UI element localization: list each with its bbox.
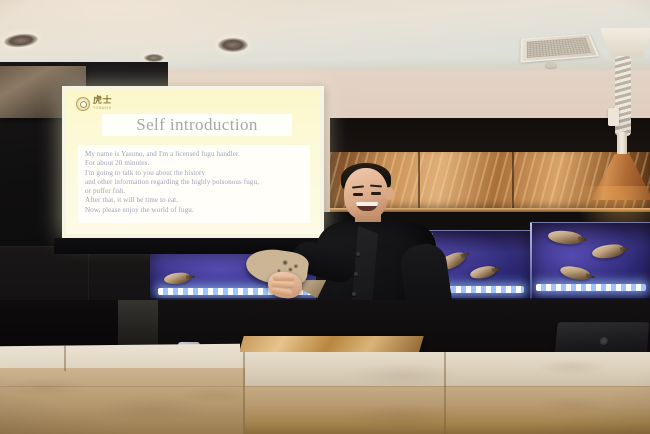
slide-logo: 虎士 TORASHI xyxy=(76,97,112,111)
counter-texture xyxy=(0,368,245,434)
jacket-button xyxy=(356,252,360,256)
laptop-logo-icon xyxy=(600,337,609,345)
aquarium-tank xyxy=(530,222,650,307)
restaurant-scene-photo: 虎士 TORASHI Self introduction My name is … xyxy=(0,0,650,434)
logo-subtitle: TORASHI xyxy=(93,107,112,111)
jacket-button xyxy=(354,272,358,276)
projection-screen: 虎士 TORASHI Self introduction My name is … xyxy=(62,86,324,238)
slide-body-line: For about 20 minutes. xyxy=(85,159,303,168)
chef-head xyxy=(344,168,388,220)
counter-front-left-section xyxy=(0,368,245,434)
tank-glass-edge xyxy=(530,223,532,307)
lamp-switch-box[interactable] xyxy=(608,108,619,126)
chef-eye xyxy=(371,192,381,195)
slide-body-line: Now, please enjoy the world of fugu. xyxy=(85,206,303,215)
slide-body-line: I'm going to talk to you about the histo… xyxy=(85,169,303,178)
upper-dark-band xyxy=(330,118,650,154)
ceiling-downlight-icon xyxy=(144,54,164,62)
pufferfish xyxy=(559,264,591,282)
finger xyxy=(273,275,295,281)
counter-seam xyxy=(243,352,245,434)
jacket-button xyxy=(352,292,356,296)
pufferfish xyxy=(547,229,582,245)
pufferfish xyxy=(163,272,190,286)
slide-body-line: After that, it will be time to eat. xyxy=(85,196,303,205)
slide-body-box: My name is Yasuno, and I'm a licensed fu… xyxy=(78,145,310,223)
chef-eye xyxy=(353,193,363,196)
slide-body-line: My name is Yasuno, and I'm a licensed fu… xyxy=(85,150,303,159)
counter-seam xyxy=(444,352,446,434)
laptop-computer[interactable] xyxy=(554,322,649,356)
smoke-detector-icon xyxy=(545,62,557,68)
counter-seam xyxy=(64,345,66,371)
pufferfish xyxy=(591,243,624,260)
finger xyxy=(271,287,293,296)
slide-body-line: and other information regarding the high… xyxy=(85,178,303,187)
slide-title: Self introduction xyxy=(102,113,292,137)
chef-ear xyxy=(385,187,394,200)
company-emblem-icon xyxy=(76,97,90,111)
counter-edge-line xyxy=(0,386,650,387)
logo-kanji: 虎士 xyxy=(93,97,112,106)
tank-led-strip xyxy=(536,284,646,291)
slide-body-line: or puffer fish. xyxy=(85,187,303,196)
copper-panel-seam xyxy=(512,152,514,210)
presentation-slide: 虎士 TORASHI Self introduction My name is … xyxy=(66,90,320,234)
chef-teeth xyxy=(356,202,378,206)
ceiling-downlight-icon xyxy=(218,38,248,52)
